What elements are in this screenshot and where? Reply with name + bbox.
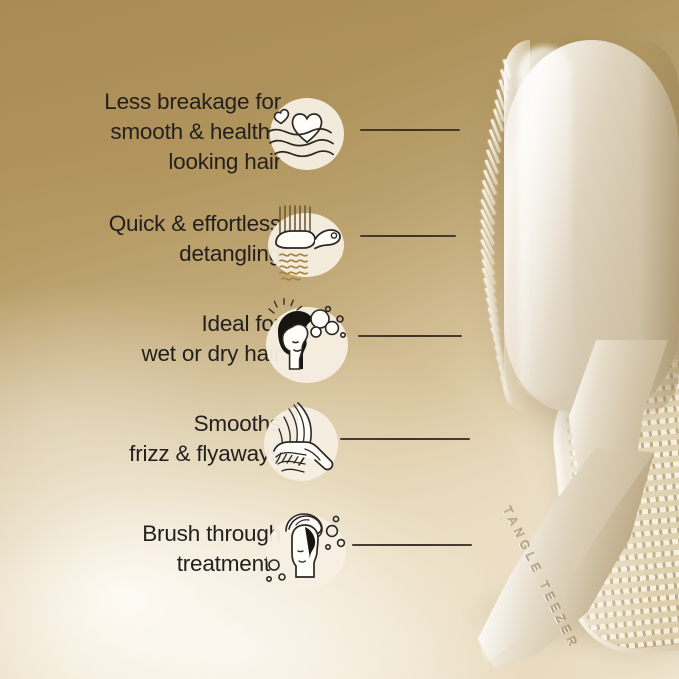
- feature-wet-or-dry: Ideal for wet or dry hair: [0, 297, 470, 393]
- feature-0-line-1: smooth & healthy: [49, 117, 281, 147]
- feature-1-line-1: detangling: [49, 239, 281, 269]
- feature-4-line-1: treatments: [49, 549, 281, 579]
- feature-1-line-0: Quick & effortless: [49, 209, 281, 239]
- feature-0-line-2: looking hair: [49, 147, 281, 177]
- feature-3-line-0: Smooths: [49, 409, 281, 439]
- feature-2-line-0: Ideal for: [49, 309, 281, 339]
- feature-less-breakage: Less breakage for smooth & healthy looki…: [0, 86, 470, 182]
- feature-smooths-frizz: Smooths frizz & flyaways: [0, 399, 470, 495]
- feature-3-text: Smooths frizz & flyaways: [49, 409, 281, 469]
- feature-2-text: Ideal for wet or dry hair: [49, 309, 281, 369]
- hair-towel-bubbles-icon: [258, 505, 358, 601]
- feature-3-leader-line: [340, 438, 470, 440]
- feature-brush-treatments: Brush through treatments: [0, 505, 470, 601]
- feature-0-line-0: Less breakage for: [49, 87, 281, 117]
- brush-handle: TANGLE TEEZER: [466, 448, 662, 670]
- woman-sun-water-icon: [258, 297, 358, 393]
- feature-1-leader-line: [360, 235, 456, 237]
- feature-4-text: Brush through treatments: [49, 519, 281, 579]
- feature-2-line-1: wet or dry hair: [49, 339, 281, 369]
- feature-3-line-1: frizz & flyaways: [49, 439, 281, 469]
- feature-0-text: Less breakage for smooth & healthy looki…: [49, 87, 281, 177]
- feature-0-leader-line: [360, 129, 460, 131]
- hand-smoothing-hair-icon: [258, 399, 358, 495]
- feature-2-leader-line: [358, 335, 462, 337]
- feature-1-text: Quick & effortless detangling: [49, 209, 281, 269]
- main-brush: TANGLE TEEZER: [448, 18, 679, 668]
- feature-quick-detangling: Quick & effortless detangling: [0, 197, 470, 293]
- product-infographic-scene: TANGLE TEEZER Less breakage for smooth &…: [0, 0, 679, 679]
- feature-4-line-0: Brush through: [49, 519, 281, 549]
- brush-detangling-icon: [258, 197, 358, 293]
- feature-list: Less breakage for smooth & healthy looki…: [0, 0, 470, 679]
- brush-head-gloss: [518, 46, 572, 399]
- heart-hair-waves-icon: [258, 86, 358, 182]
- feature-4-leader-line: [352, 544, 472, 546]
